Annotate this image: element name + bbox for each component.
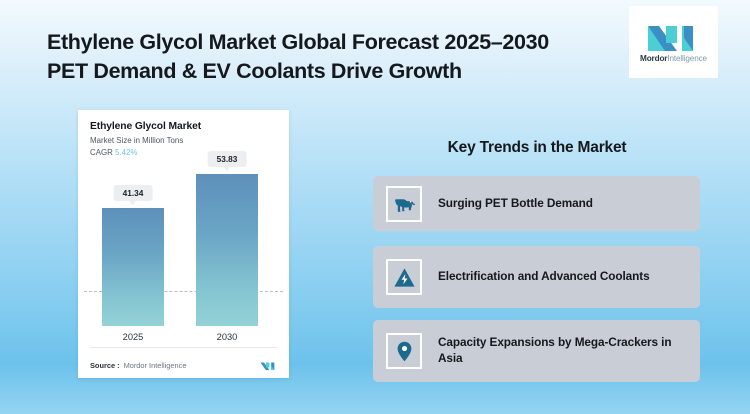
page-title-line-2: PET Demand & EV Coolants Drive Growth — [47, 57, 617, 86]
source-label: Source : — [90, 361, 120, 370]
logo-word-light: Intelligence — [667, 54, 707, 63]
chart-header: Ethylene Glycol Market Market Size in Mi… — [78, 110, 289, 157]
trend-label: Electrification and Advanced Coolants — [438, 269, 660, 285]
dog-icon — [393, 192, 416, 215]
brand-logo: MordorIntelligence — [629, 6, 718, 78]
bar-2030 — [196, 174, 258, 326]
cagr-value: 5.42% — [115, 148, 137, 157]
map-pin-icon — [393, 340, 416, 363]
trend-card-pet-bottle-demand[interactable]: Surging PET Bottle Demand — [373, 176, 700, 231]
bar-2025 — [102, 208, 164, 326]
trend-card-electrification-coolants[interactable]: Electrification and Advanced Coolants — [373, 246, 700, 308]
chart-card: Ethylene Glycol Market Market Size in Mi… — [78, 110, 289, 378]
chart-subtitle: Market Size in Million Tons — [90, 136, 289, 145]
logo-wordmark: MordorIntelligence — [640, 54, 707, 63]
trend-card-capacity-expansions-asia[interactable]: Capacity Expansions by Mega-Crackers in … — [373, 320, 700, 382]
bar-group-2025: 41.34 2025 — [102, 208, 164, 326]
lightning-triangle-icon — [393, 266, 416, 289]
source-value: Mordor Intelligence — [124, 361, 187, 370]
bar-group-2030: 53.83 2030 — [196, 174, 258, 326]
page-title: Ethylene Glycol Market Global Forecast 2… — [47, 28, 617, 85]
chart-cagr: CAGR 5.42% — [90, 148, 289, 157]
footer-logo-mark — [260, 360, 277, 371]
logo-word-bold: Mordor — [640, 54, 667, 63]
chart-footer: Source : Mordor Intelligence — [78, 352, 289, 378]
page-title-line-1: Ethylene Glycol Market Global Forecast 2… — [47, 28, 617, 57]
mordor-logo-mark — [646, 21, 702, 51]
plot-divider — [90, 347, 277, 348]
chart-title: Ethylene Glycol Market — [90, 121, 289, 132]
icon-frame — [386, 333, 422, 369]
trend-label: Capacity Expansions by Mega-Crackers in … — [438, 335, 700, 366]
panel-title: Key Trends in the Market — [372, 139, 702, 157]
bar-value-label: 41.34 — [114, 185, 153, 201]
icon-frame — [386, 259, 422, 295]
bar-category-label: 2025 — [102, 332, 164, 342]
cagr-label: CAGR — [90, 148, 113, 157]
bar-category-label: 2030 — [196, 332, 258, 342]
bar-chart-plot: 41.34 2025 53.83 2030 — [78, 173, 289, 348]
trend-label: Surging PET Bottle Demand — [438, 196, 603, 212]
bar-value-label: 53.83 — [208, 151, 247, 167]
icon-frame — [386, 186, 422, 222]
